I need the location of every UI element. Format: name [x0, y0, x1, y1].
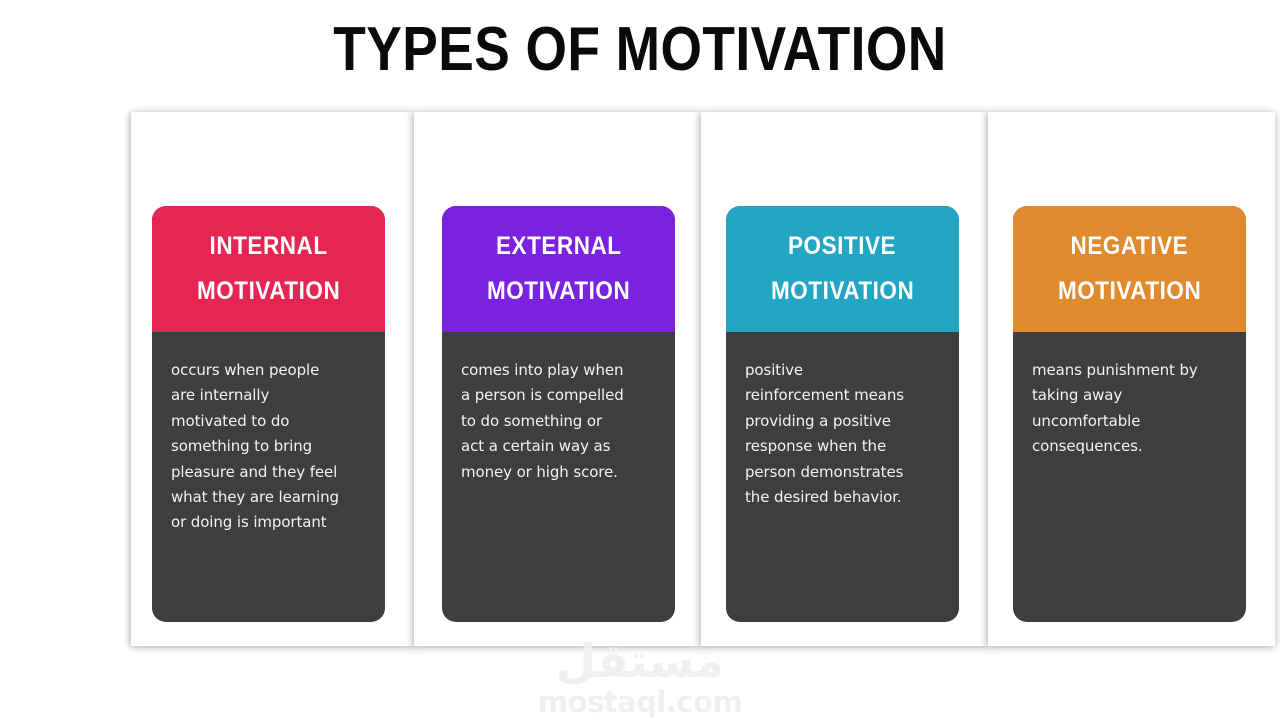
card-negative-motivation[interactable]: NEGATIVE MOTIVATION means punishment by … — [1013, 206, 1246, 622]
card-description: comes into play when a person is compell… — [461, 358, 657, 485]
card-body-external: comes into play when a person is compell… — [442, 332, 675, 622]
card-header-negative: NEGATIVE MOTIVATION — [1013, 206, 1246, 332]
card-title-line-2: MOTIVATION — [197, 269, 340, 314]
card-description: means punishment by taking away uncomfor… — [1032, 358, 1228, 460]
card-title-line-2: MOTIVATION — [487, 269, 630, 314]
card-body-positive: positive reinforcement means providing a… — [726, 332, 959, 622]
card-external-motivation[interactable]: EXTERNAL MOTIVATION comes into play when… — [442, 206, 675, 622]
card-header-internal: INTERNAL MOTIVATION — [152, 206, 385, 332]
card-title-line-1: EXTERNAL — [496, 224, 622, 269]
card-positive-motivation[interactable]: POSITIVE MOTIVATION positive reinforceme… — [726, 206, 959, 622]
card-title-line-1: POSITIVE — [788, 224, 896, 269]
card-title-line-2: MOTIVATION — [1058, 269, 1201, 314]
card-header-positive: POSITIVE MOTIVATION — [726, 206, 959, 332]
card-header-external: EXTERNAL MOTIVATION — [442, 206, 675, 332]
card-title-line-1: INTERNAL — [209, 224, 327, 269]
motivation-card-group: INTERNAL MOTIVATION occurs when people a… — [0, 0, 1280, 720]
card-description: occurs when people are internally motiva… — [171, 358, 367, 536]
card-internal-motivation[interactable]: INTERNAL MOTIVATION occurs when people a… — [152, 206, 385, 622]
card-description: positive reinforcement means providing a… — [745, 358, 941, 510]
card-title-line-1: NEGATIVE — [1071, 224, 1189, 269]
card-body-internal: occurs when people are internally motiva… — [152, 332, 385, 622]
card-body-negative: means punishment by taking away uncomfor… — [1013, 332, 1246, 622]
card-title-line-2: MOTIVATION — [771, 269, 914, 314]
